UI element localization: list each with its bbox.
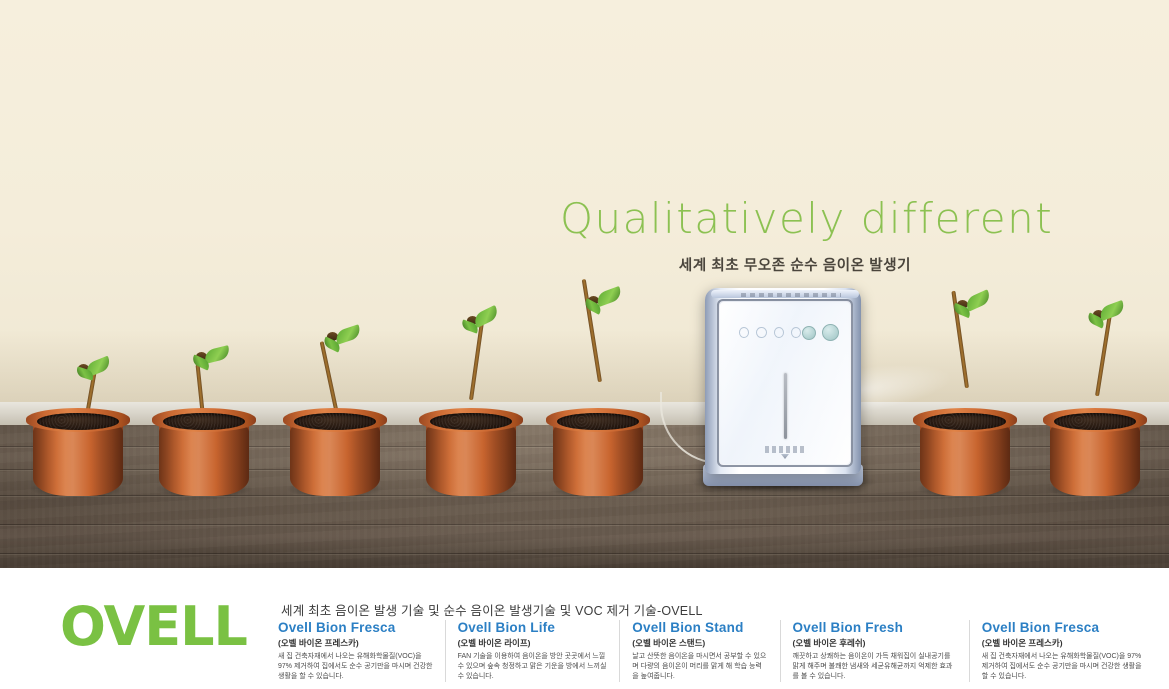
pot-soil	[1054, 413, 1136, 430]
product-description: 새 집 건축자재에서 나오는 유해화학물질(VOC)을 97% 제거하여 집에서…	[278, 652, 433, 682]
pot-rim	[419, 408, 523, 432]
product-card[interactable]: Ovell Bion Life (오벨 바이온 라이프) FAN 기술을 이용하…	[445, 620, 620, 682]
product-description: 새 집 건축자재에서 나오는 유해화학물질(VOC)을 97% 제거하여 집에서…	[982, 652, 1146, 682]
soil-texture	[294, 413, 376, 430]
device-logo-microtext	[765, 446, 805, 453]
air-purifier-device[interactable]	[703, 288, 863, 486]
pot-soil	[924, 413, 1006, 430]
product-title-korean: (오벨 바이온 라이프)	[458, 637, 608, 649]
soil-texture	[163, 413, 245, 430]
plant-pot	[152, 408, 256, 496]
device-brand-microtext	[741, 293, 841, 297]
pot-soil	[430, 413, 512, 430]
product-card-list: Ovell Bion Fresca (오벨 바이온 프레스카) 새 집 건축자재…	[278, 620, 1158, 682]
product-title: Ovell Bion Fresh	[793, 620, 957, 635]
headline-text: Qualitatively different	[560, 196, 1030, 242]
subheadline-text: 세계 최초 무오존 순수 음이온 발생기	[560, 254, 1030, 275]
ovell-logo[interactable]: OVELL	[60, 600, 247, 654]
headline-block: Qualitatively different 세계 최초 무오존 순수 음이온…	[560, 196, 1030, 275]
plant-pot	[26, 408, 130, 496]
plant-pot	[419, 408, 523, 496]
plant-sprout	[1073, 316, 1133, 396]
pot-shading	[1050, 426, 1140, 496]
pot-rim	[913, 408, 1017, 432]
power-button[interactable]	[822, 324, 839, 341]
pot-soil	[294, 413, 376, 430]
footer-tagline: 세계 최초 음이온 발생 기술 및 순수 음이온 발생기술 및 VOC 제거 기…	[281, 600, 703, 619]
device-indicator-lights	[739, 327, 801, 337]
footer-panel: OVELL 세계 최초 음이온 발생 기술 및 순수 음이온 발생기술 및 VO…	[0, 568, 1169, 689]
pot-shading	[159, 426, 249, 496]
pot-soil	[163, 413, 245, 430]
plant-pot	[913, 408, 1017, 496]
product-title-korean: (오벨 바이온 프레스카)	[278, 637, 433, 649]
product-title: Ovell Bion Fresca	[982, 620, 1146, 635]
product-description: 깨끗하고 상쾌하는 음이온이 가득 채워집이 실내공기를 맑게 해주며 불쾌한 …	[793, 652, 957, 682]
product-description: 날고 산뜻한 음이온을 마시면서 공부할 수 있으며 다량의 음이온이 머리를 …	[632, 652, 767, 682]
product-card[interactable]: Ovell Bion Fresca (오벨 바이온 프레스카) 새 집 건축자재…	[969, 620, 1158, 682]
plant-pot	[283, 408, 387, 496]
pot-shading	[920, 426, 1010, 496]
pot-rim	[152, 408, 256, 432]
product-title-korean: (오벨 바이온 스탠드)	[632, 637, 767, 649]
pot-rim	[26, 408, 130, 432]
indicator-icon	[774, 327, 784, 338]
product-title: Ovell Bion Fresca	[278, 620, 433, 635]
product-card[interactable]: Ovell Bion Stand (오벨 바이온 스탠드) 날고 산뜻한 음이온…	[619, 620, 779, 682]
pot-rim	[283, 408, 387, 432]
pot-shading	[290, 426, 380, 496]
plant-sprout	[447, 320, 507, 400]
pot-rim	[1043, 408, 1147, 432]
product-title: Ovell Bion Life	[458, 620, 608, 635]
soil-texture	[37, 413, 119, 430]
hero-scene: Qualitatively different 세계 최초 무오존 순수 음이온…	[0, 0, 1169, 568]
product-card[interactable]: Ovell Bion Fresca (오벨 바이온 프레스카) 새 집 건축자재…	[278, 620, 445, 682]
product-description: FAN 기술을 이용하여 음이온을 방안 곳곳에서 느낄 수 있으며 숲속 청정…	[458, 652, 608, 682]
product-card[interactable]: Ovell Bion Fresh (오벨 바이온 후레쉬) 깨끗하고 상쾌하는 …	[780, 620, 969, 682]
pot-shading	[426, 426, 516, 496]
device-shell	[705, 288, 861, 474]
plant-sprout	[313, 334, 373, 414]
indicator-icon	[739, 327, 749, 338]
device-top-bezel	[711, 290, 859, 298]
indicator-icon	[756, 327, 766, 338]
soil-texture	[557, 413, 639, 430]
pot-shading	[553, 426, 643, 496]
advertisement-page: Qualitatively different 세계 최초 무오존 순수 음이온…	[0, 0, 1169, 689]
plant-sprout	[943, 308, 1003, 388]
mode-button[interactable]	[802, 326, 816, 340]
pot-soil	[557, 413, 639, 430]
product-title: Ovell Bion Stand	[632, 620, 767, 635]
plant-pot	[1043, 408, 1147, 496]
indicator-icon	[791, 327, 801, 338]
pot-rim	[546, 408, 650, 432]
plant-stem	[320, 341, 339, 414]
soil-texture	[924, 413, 1006, 430]
device-front-panel	[717, 299, 853, 467]
pot-shading	[33, 426, 123, 496]
product-title-korean: (오벨 바이온 프레스카)	[982, 637, 1146, 649]
product-title-korean: (오벨 바이온 후레쉬)	[793, 637, 957, 649]
soil-texture	[1054, 413, 1136, 430]
soil-texture	[430, 413, 512, 430]
device-control-buttons[interactable]	[802, 324, 839, 341]
plant-sprout	[576, 302, 636, 382]
plant-pot	[546, 408, 650, 496]
device-air-slot	[784, 373, 787, 439]
pot-soil	[37, 413, 119, 430]
